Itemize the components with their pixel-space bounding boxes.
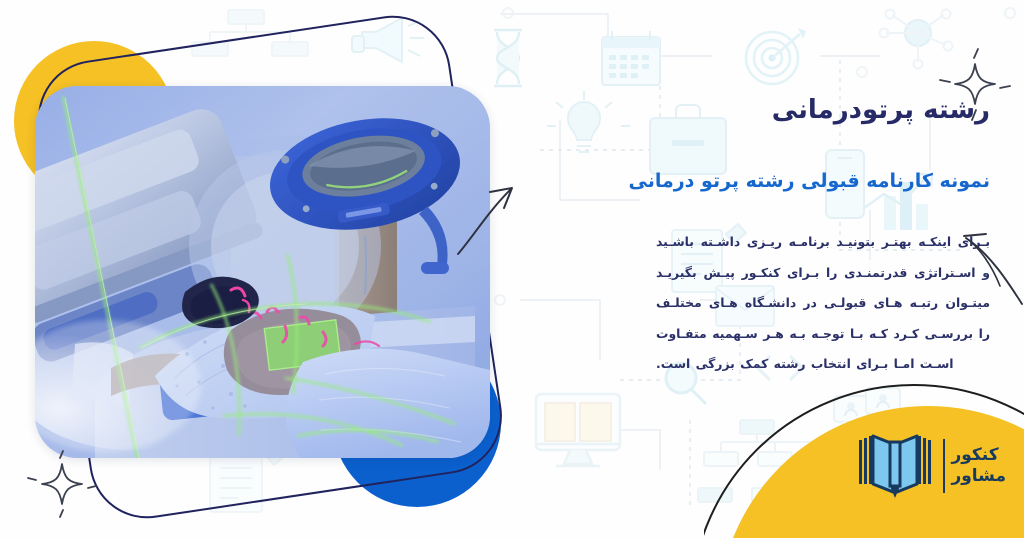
brand-name: کنکور مشاور <box>951 445 1006 486</box>
brand-name-line1: کنکور <box>951 445 998 466</box>
curved-arrow-icon <box>956 216 1024 312</box>
page-subtitle: نمونه کارنامه قبولی رشته پرتو درمانی <box>628 170 990 192</box>
logo-divider <box>943 439 945 493</box>
poster-canvas: رشته پرتودرمانی نمونه کارنامه قبولی رشته… <box>0 0 1024 538</box>
curved-arrow-icon <box>454 168 532 264</box>
body-paragraph: بـرای اینکـه بهتـر بتونیـد برنامـه ریـزی… <box>656 227 990 379</box>
page-title: رشته پرتودرمانی <box>772 95 990 125</box>
sparkle-icon <box>26 448 98 522</box>
radiotherapy-photo <box>35 86 490 458</box>
brand-logo[interactable]: کنکور مشاور <box>853 428 1006 504</box>
brand-name-line2: مشاور <box>951 466 1006 487</box>
open-book-icon <box>853 428 937 504</box>
hero-image-composition <box>0 0 520 538</box>
